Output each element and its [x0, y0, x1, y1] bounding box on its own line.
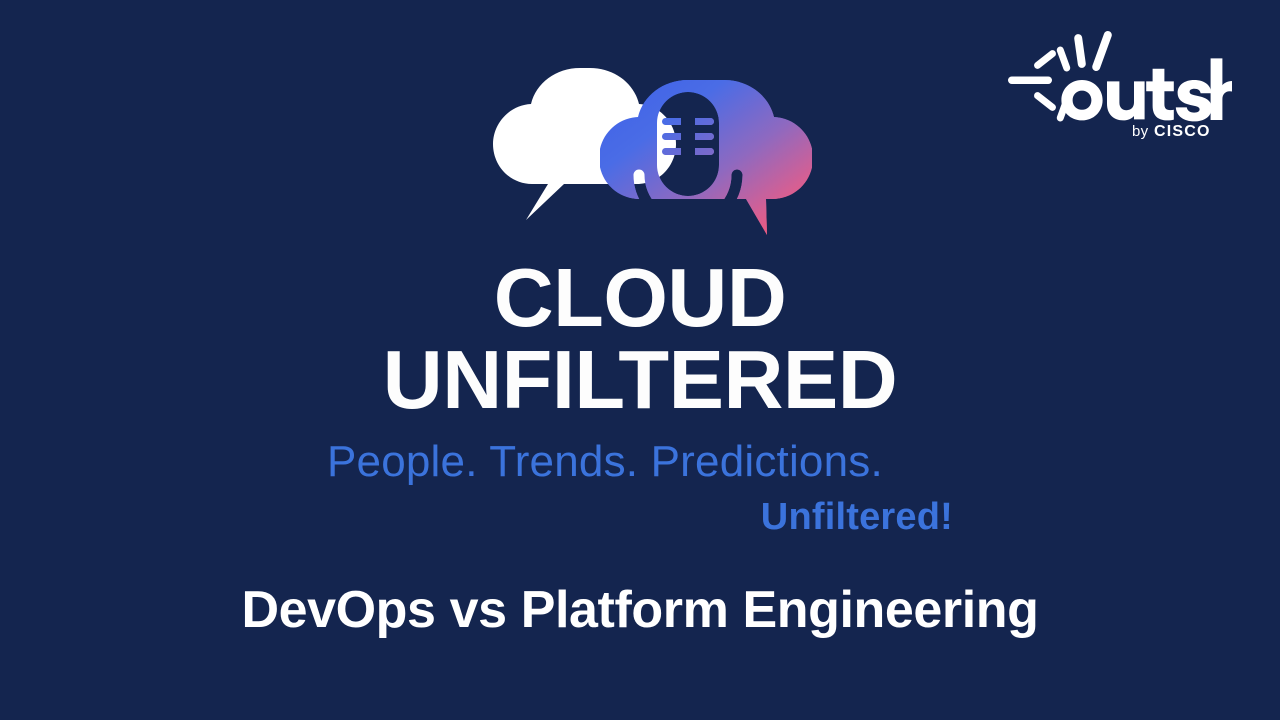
outshift-wordmark [1061, 58, 1232, 121]
svg-text:CISCO: CISCO [1154, 123, 1211, 140]
tagline-block: People. Trends. Predictions. Unfiltered! [0, 436, 1280, 541]
tagline-accent-text: Unfiltered! [327, 494, 953, 542]
show-title-line-1: CLOUD [0, 258, 1280, 338]
tagline-text: People. Trends. Predictions. [327, 436, 953, 488]
show-title: CLOUD UNFILTERED [0, 258, 1280, 419]
outshift-brand-logo: by CISCO [1006, 28, 1232, 140]
podcast-title-slide: by CISCO [0, 0, 1280, 720]
episode-title: DevOps vs Platform Engineering [241, 582, 1038, 639]
episode-title-block: DevOps vs Platform Engineering [0, 582, 1280, 639]
by-cisco-byline: by CISCO [1132, 123, 1211, 140]
svg-text:by: by [1132, 123, 1149, 140]
show-title-line-2: UNFILTERED [0, 340, 1280, 420]
